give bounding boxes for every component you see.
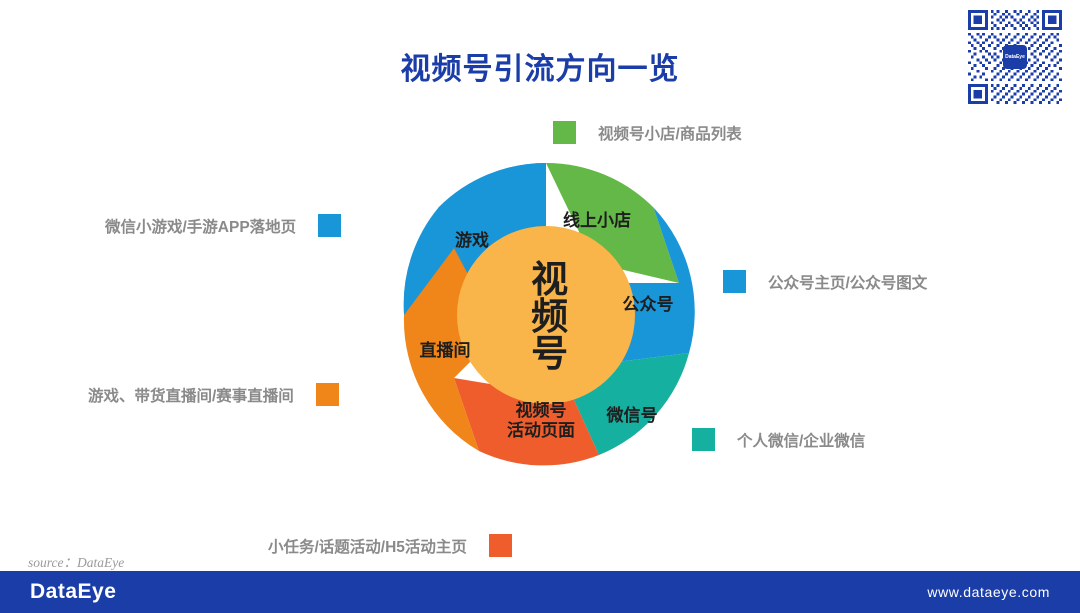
legend-swatch-games — [318, 214, 341, 237]
legend-item-wechat-id[interactable]: 个人微信/企业微信 — [692, 428, 865, 451]
infographic-page: 视频号引流方向一览 — [0, 0, 1080, 613]
legend-label-activity: 小任务/话题活动/H5活动主页 — [268, 535, 467, 557]
legend-label-games: 微信小游戏/手游APP落地页 — [105, 215, 296, 237]
segment-label-wechat-id: 微信号 — [592, 406, 672, 426]
footer-brand-logo: DataEye — [30, 580, 116, 604]
legend-swatch-online-shop — [553, 121, 576, 144]
legend-item-activity[interactable]: 小任务/话题活动/H5活动主页 — [268, 534, 512, 557]
segment-label-activity: 视频号 活动页面 — [486, 401, 596, 441]
legend-item-official-acc[interactable]: 公众号主页/公众号图文 — [723, 270, 927, 293]
segment-label-official-acc: 公众号 — [608, 295, 688, 315]
legend-label-official-acc: 公众号主页/公众号图文 — [768, 271, 927, 293]
legend-label-wechat-id: 个人微信/企业微信 — [737, 429, 865, 451]
source-note: source：DataEye — [28, 551, 124, 571]
qr-code: DataEye — [968, 10, 1062, 104]
legend-swatch-wechat-id — [692, 428, 715, 451]
legend-swatch-live-room — [316, 383, 339, 406]
legend-swatch-official-acc — [723, 270, 746, 293]
page-title: 视频号引流方向一览 — [0, 44, 1080, 88]
legend-item-games[interactable]: 微信小游戏/手游APP落地页 — [105, 214, 341, 237]
donut-diagram: 视频号 游戏 线上小店 公众号 微信号 视频号 活动页面 直播间 — [394, 163, 698, 467]
legend-swatch-activity — [489, 534, 512, 557]
center-char-1: 视频号 — [526, 260, 565, 371]
legend-item-live-room[interactable]: 游戏、带货直播间/赛事直播间 — [88, 383, 339, 406]
legend-label-live-room: 游戏、带货直播间/赛事直播间 — [88, 384, 294, 406]
segment-label-live-room: 直播间 — [402, 341, 488, 361]
footer-bar: DataEye www.dataeye.com — [0, 571, 1080, 613]
segment-label-activity-line2: 活动页面 — [486, 421, 596, 441]
footer-website-url[interactable]: www.dataeye.com — [927, 584, 1050, 600]
legend-item-online-shop[interactable]: 视频号小店/商品列表 — [553, 121, 742, 144]
segment-label-online-shop: 线上小店 — [542, 211, 652, 231]
center-label: 视频号 — [526, 260, 565, 371]
segment-label-activity-line1: 视频号 — [486, 401, 596, 421]
legend-label-online-shop: 视频号小店/商品列表 — [598, 122, 742, 144]
segment-label-games: 游戏 — [432, 231, 512, 251]
qr-center-badge: DataEye — [1003, 45, 1027, 69]
